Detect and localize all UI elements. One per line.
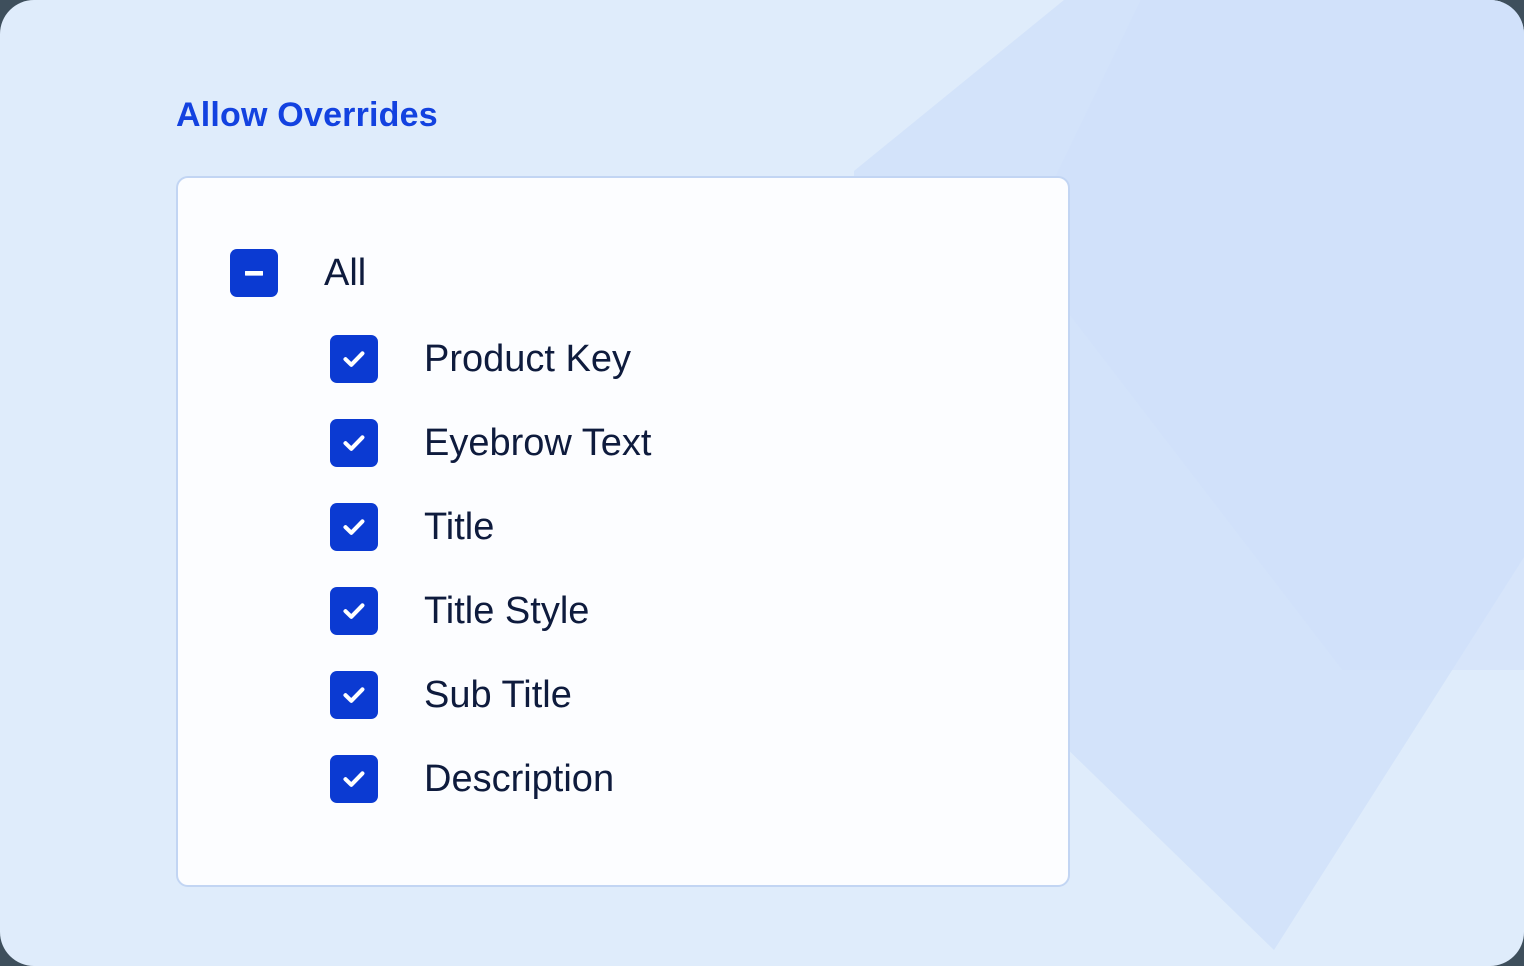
page-frame: Allow Overrides All bbox=[0, 0, 1524, 966]
tree-label-product-key: Product Key bbox=[424, 340, 631, 378]
tree-label-title-style: Title Style bbox=[424, 592, 589, 630]
checkbox-checked-icon[interactable] bbox=[330, 335, 378, 383]
checkbox-checked-icon[interactable] bbox=[330, 671, 378, 719]
tree-label-title: Title bbox=[424, 508, 494, 546]
tree-row-title[interactable]: Title bbox=[330, 501, 494, 553]
allow-overrides-card: All Product Key bbox=[176, 176, 1070, 887]
tree-label-eyebrow-text: Eyebrow Text bbox=[424, 424, 651, 462]
tree-label-description: Description bbox=[424, 760, 614, 798]
checkbox-checked-icon[interactable] bbox=[330, 503, 378, 551]
tree-label-all: All bbox=[324, 254, 366, 292]
tree-row-eyebrow-text[interactable]: Eyebrow Text bbox=[330, 417, 651, 469]
tree-row-description[interactable]: Description bbox=[330, 753, 614, 805]
tree-row-title-style[interactable]: Title Style bbox=[330, 585, 589, 637]
checkbox-indeterminate-icon[interactable] bbox=[230, 249, 278, 297]
page-content: Allow Overrides All bbox=[0, 0, 1524, 966]
tree-row-all[interactable]: All bbox=[230, 247, 366, 299]
tree-row-product-key[interactable]: Product Key bbox=[330, 333, 631, 385]
page-title: Allow Overrides bbox=[176, 96, 438, 135]
checkbox-checked-icon[interactable] bbox=[330, 587, 378, 635]
checkbox-checked-icon[interactable] bbox=[330, 755, 378, 803]
tree-row-sub-title[interactable]: Sub Title bbox=[330, 669, 572, 721]
checkbox-checked-icon[interactable] bbox=[330, 419, 378, 467]
tree-label-sub-title: Sub Title bbox=[424, 676, 572, 714]
